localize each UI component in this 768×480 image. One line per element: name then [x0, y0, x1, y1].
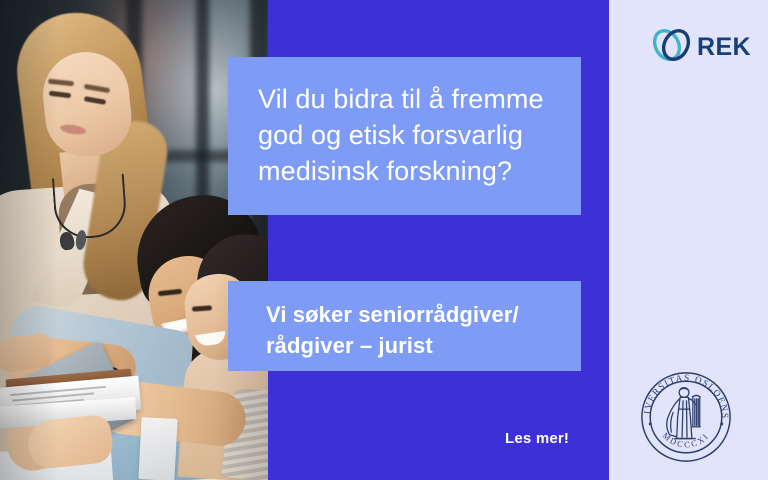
headline-box: Vil du bidra til å fremme god og etisk f… [228, 57, 581, 215]
laptop [138, 417, 177, 480]
interlocking-rings-icon [650, 26, 694, 69]
job-title-box: Vi søker seniorrådgiver/ rådgiver – juri… [228, 281, 581, 371]
recruitment-banner: Vil du bidra til å fremme god og etisk f… [0, 0, 768, 480]
headline-text: Vil du bidra til å fremme god og etisk f… [258, 81, 555, 189]
uio-seal: UNIVERSITAS OSLOENSIS MDCCCXI [637, 368, 735, 466]
job-title-text: Vi søker seniorrådgiver/ rådgiver – juri… [266, 299, 555, 361]
rek-wordmark: REK [697, 35, 751, 60]
seal-top-text: UNIVERSITAS OSLOENSIS [637, 368, 730, 420]
read-more-link[interactable]: Les mer! [505, 430, 569, 447]
rek-logo[interactable]: REK [650, 26, 751, 69]
